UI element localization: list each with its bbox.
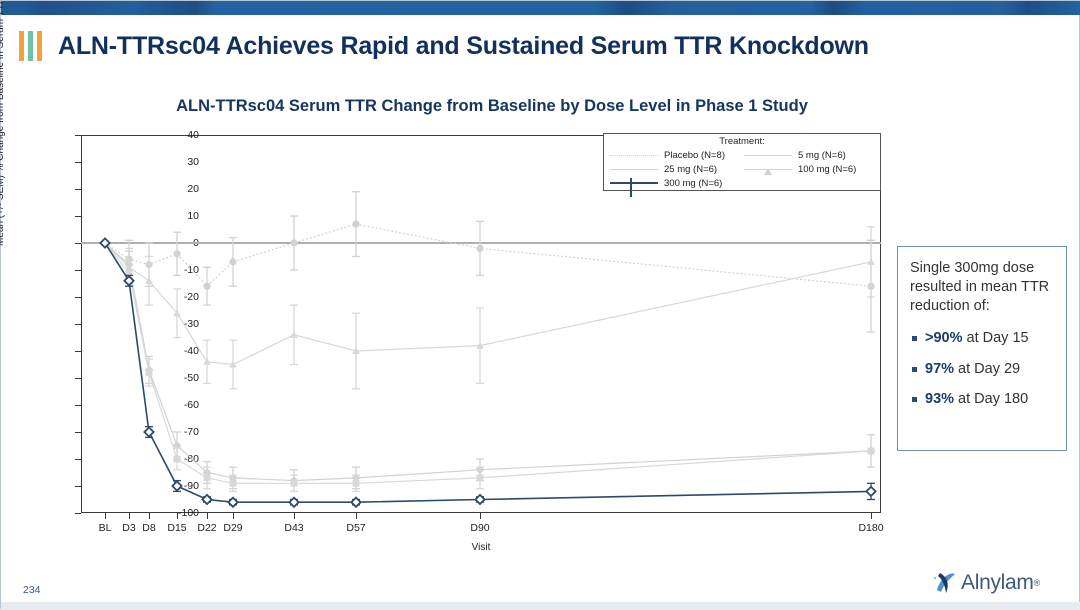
x-tick-label: D43 bbox=[284, 522, 303, 534]
legend-swatch-300mg bbox=[608, 177, 660, 189]
callout-item-value: 97% bbox=[925, 361, 954, 377]
series-line bbox=[105, 224, 871, 286]
series-5-mg-n-6- bbox=[101, 227, 875, 389]
legend-row: 300 mg (N=6) bbox=[608, 176, 876, 190]
legend-row: 25 mg (N=6) 100 mg (N=6) bbox=[608, 162, 876, 176]
x-tick-label: D29 bbox=[223, 522, 242, 534]
x-tick-mark bbox=[871, 513, 872, 519]
x-tick-label: D180 bbox=[858, 522, 883, 534]
callout-box: Single 300mg dose resulted in mean TTR r… bbox=[897, 246, 1067, 451]
x-tick-label: D3 bbox=[122, 522, 135, 534]
x-tick-label: D57 bbox=[346, 522, 365, 534]
x-tick-label: D8 bbox=[142, 522, 155, 534]
bullet-icon bbox=[912, 397, 917, 402]
alnylam-logo: Alnylam ® bbox=[931, 567, 1066, 599]
legend-swatch-placebo bbox=[608, 149, 660, 161]
series-placebo-n-8- bbox=[101, 192, 875, 332]
chart-legend: Treatment: Placebo (N=8) 5 mg (N=6) 25 bbox=[603, 133, 881, 191]
logo-wordmark: Alnylam bbox=[961, 571, 1034, 595]
legend-item-300mg: 300 mg (N=6) bbox=[608, 177, 876, 189]
legend-swatch-5mg bbox=[742, 149, 794, 161]
x-axis-label: Visit bbox=[81, 542, 881, 553]
callout-item: >90% at Day 15 bbox=[910, 330, 1056, 347]
callout-item-text: at Day 29 bbox=[954, 361, 1020, 377]
alnylam-swoosh-icon bbox=[931, 568, 961, 598]
x-tick-mark bbox=[149, 513, 150, 519]
slide: ALN-TTRsc04 Achieves Rapid and Sustained… bbox=[0, 0, 1080, 609]
page-number: 234 bbox=[23, 584, 41, 596]
y-tick-mark bbox=[75, 513, 81, 514]
callout-item-text: at Day 180 bbox=[954, 391, 1028, 407]
callout-lead-text: Single 300mg dose resulted in mean TTR r… bbox=[910, 259, 1056, 316]
legend-item-25mg: 25 mg (N=6) bbox=[608, 163, 742, 175]
x-tick-mark bbox=[233, 513, 234, 519]
series-300-mg-n-6- bbox=[100, 238, 875, 506]
legend-item-placebo: Placebo (N=8) bbox=[608, 149, 742, 161]
chart-plot bbox=[81, 135, 881, 513]
x-tick-mark bbox=[356, 513, 357, 519]
y-axis-label: Mean (+/- SEM) % Change from Baseline in… bbox=[0, 0, 6, 246]
legend-item-5mg: 5 mg (N=6) bbox=[742, 149, 876, 161]
x-tick-mark bbox=[294, 513, 295, 519]
x-tick-label: D22 bbox=[197, 522, 216, 534]
callout-item: 93% at Day 180 bbox=[910, 391, 1056, 408]
callout-item-text: at Day 15 bbox=[963, 330, 1029, 346]
series-line bbox=[105, 243, 871, 365]
bullet-icon bbox=[912, 336, 917, 341]
callout-item: 97% at Day 29 bbox=[910, 361, 1056, 378]
legend-swatch-25mg bbox=[608, 163, 660, 175]
x-tick-mark bbox=[207, 513, 208, 519]
x-tick-label: D15 bbox=[167, 522, 186, 534]
x-tick-label: BL bbox=[99, 522, 112, 534]
legend-title: Treatment: bbox=[608, 136, 876, 147]
legend-row: Placebo (N=8) 5 mg (N=6) bbox=[608, 148, 876, 162]
legend-swatch-100mg bbox=[742, 163, 794, 175]
bullet-icon bbox=[912, 367, 917, 372]
x-tick-label: D90 bbox=[470, 522, 489, 534]
series-line bbox=[105, 243, 871, 481]
legend-item-100mg: 100 mg (N=6) bbox=[742, 163, 876, 175]
x-tick-mark bbox=[177, 513, 178, 519]
x-tick-mark bbox=[105, 513, 106, 519]
x-tick-mark bbox=[480, 513, 481, 519]
callout-item-value: >90% bbox=[925, 330, 963, 346]
logo-trademark: ® bbox=[1034, 578, 1041, 588]
x-tick-mark bbox=[129, 513, 130, 519]
callout-items: >90% at Day 1597% at Day 2993% at Day 18… bbox=[910, 330, 1056, 408]
series-line bbox=[105, 243, 871, 502]
series-100-mg-n-6- bbox=[102, 240, 875, 492]
callout-item-value: 93% bbox=[925, 391, 954, 407]
